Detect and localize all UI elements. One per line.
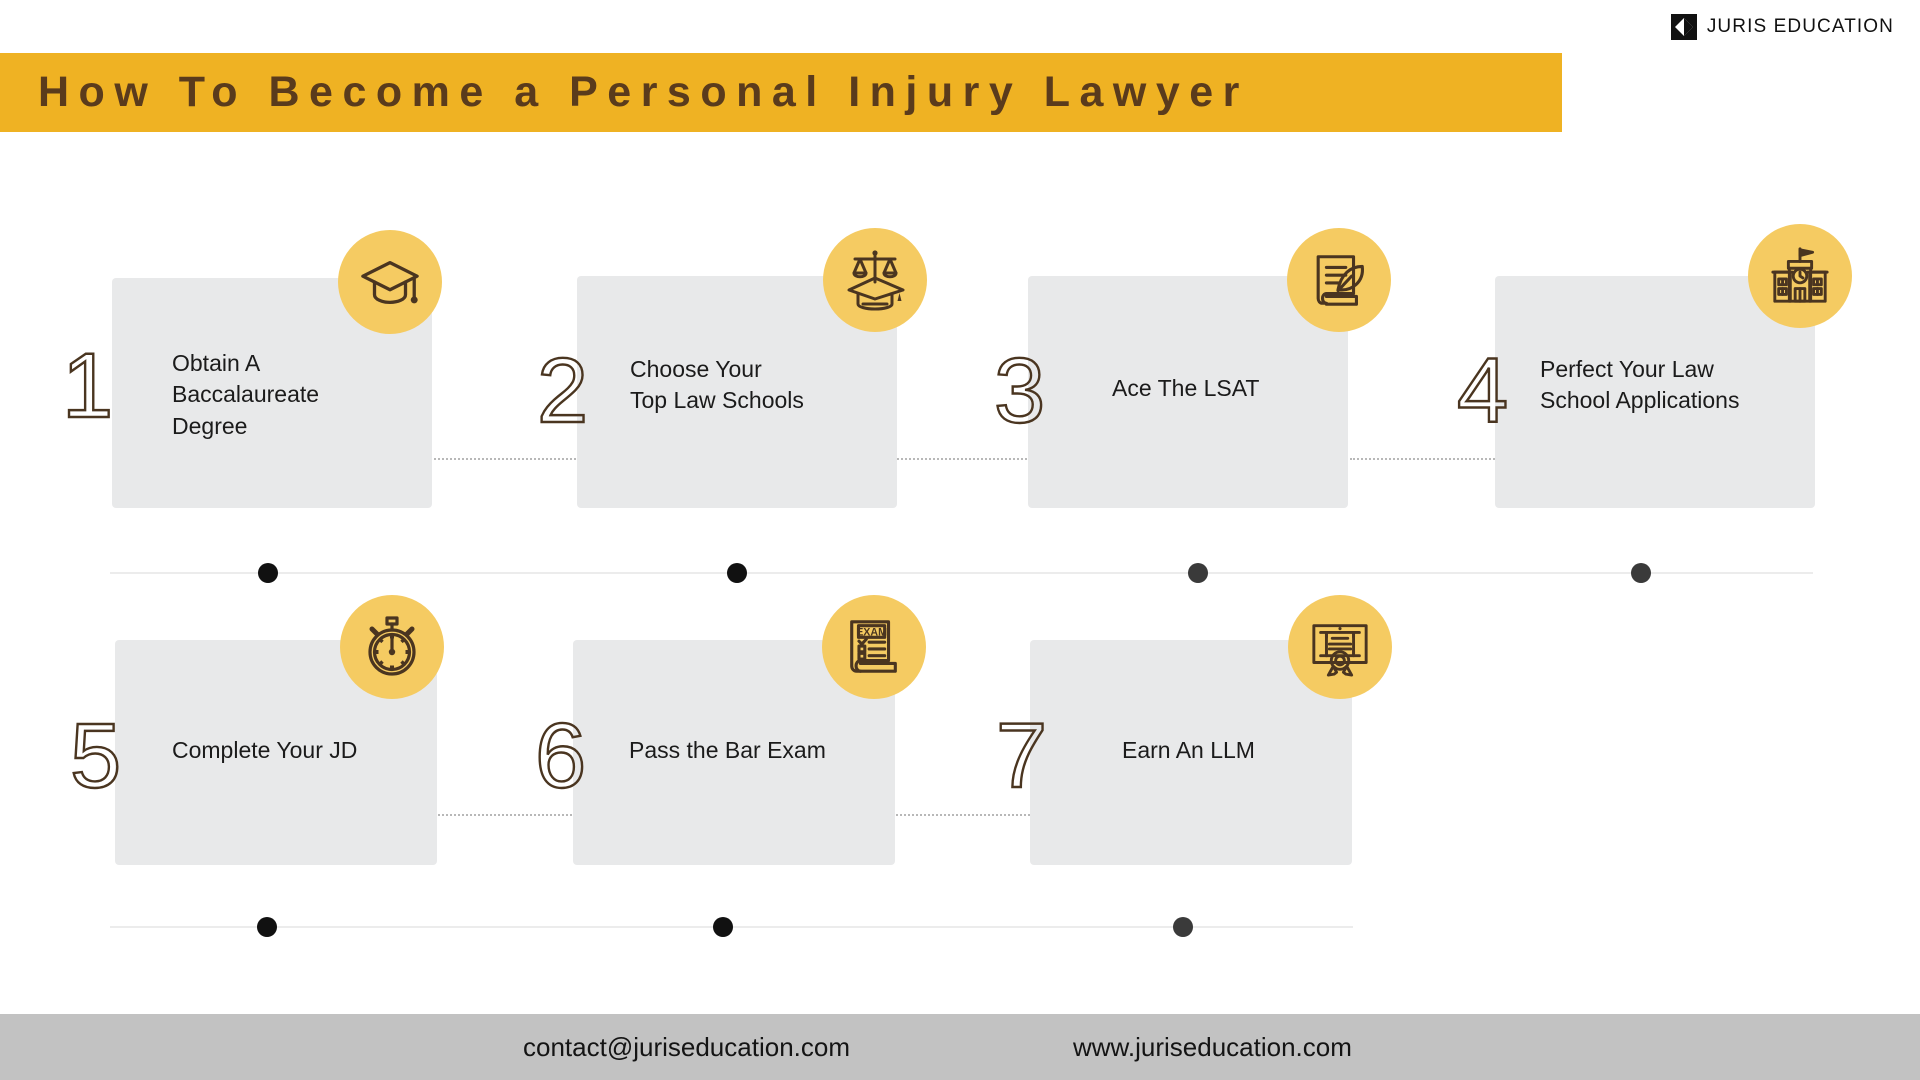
exam-icon-text: EXAM [856,626,887,638]
certificate-seal-icon [1309,616,1371,678]
step-label-3: Ace The LSAT [1112,373,1362,404]
dotted-connector-5-6 [435,814,575,816]
rail-dot-3 [1188,563,1208,583]
step-number-2: 2 [537,345,588,437]
dotted-connector-6-7 [893,814,1033,816]
scales-of-justice-icon [843,248,907,312]
rail-dot-5 [257,917,277,937]
step-label-7: Earn An LLM [1122,735,1372,766]
footer-website[interactable]: www.juriseducation.com [1073,1032,1352,1063]
step-icon-7 [1288,595,1392,699]
rail-dot-1 [258,563,278,583]
rail-dot-7 [1173,917,1193,937]
dotted-connector-1-2 [430,458,580,460]
step-number-3: 3 [994,345,1045,437]
step-label-6: Pass the Bar Exam [629,735,899,766]
step-icon-2 [823,228,927,332]
step-number-6: 6 [535,710,586,802]
step-number-4: 4 [1457,345,1508,437]
exam-checklist-icon: EXAM [843,616,905,678]
steps-area: 1 Obtain A Baccalaureate Degree 2 Choose… [0,0,1920,1020]
rail-dot-4 [1631,563,1651,583]
step-label-1: Obtain A Baccalaureate Degree [172,348,422,442]
step-number-5: 5 [70,710,121,802]
step-icon-5 [340,595,444,699]
rail-dot-6 [713,917,733,937]
step-icon-3 [1287,228,1391,332]
step-icon-1 [338,230,442,334]
graduation-cap-icon [359,251,421,313]
step-icon-4 [1748,224,1852,328]
dotted-connector-2-3 [890,458,1030,460]
footer-email[interactable]: contact@juriseducation.com [523,1032,850,1063]
step-number-7: 7 [996,710,1047,802]
rail-dot-2 [727,563,747,583]
footer-bar: contact@juriseducation.com www.juriseduc… [0,1014,1920,1080]
rail-row-1 [110,572,1813,574]
dotted-connector-3-4 [1350,458,1495,460]
document-quill-icon [1308,249,1370,311]
step-number-1: 1 [62,340,113,432]
step-label-2: Choose Your Top Law Schools [630,354,890,417]
school-building-icon [1769,245,1831,307]
step-label-4: Perfect Your Law School Applications [1540,354,1815,417]
stopwatch-icon [360,615,424,679]
step-icon-6: EXAM [822,595,926,699]
step-label-5: Complete Your JD [172,735,432,766]
